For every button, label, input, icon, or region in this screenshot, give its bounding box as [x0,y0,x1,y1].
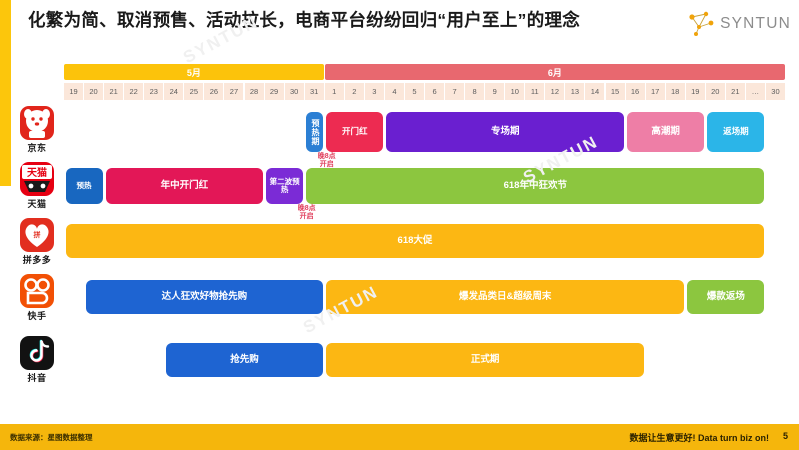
promotion-timeline-chart: 5月6月192021222324252627282930311234567891… [0,56,799,421]
day-cell: 30 [766,83,786,100]
phase-bar[interactable]: 年中开门红 [106,168,263,204]
platform-label: 快手 [27,309,46,322]
footer-page-number: 5 [783,431,788,441]
day-cell: 20 [706,83,726,100]
brand-logo-text: SYNTUN [720,15,791,33]
phase-bar[interactable]: 第二波预热 [266,168,303,204]
svg-text:天猫: 天猫 [27,166,47,179]
day-cell: 26 [204,83,224,100]
platform-快手: 快手 [16,274,58,322]
day-cell: 12 [545,83,565,100]
day-cell: 9 [485,83,505,100]
tmall-cat-icon: 天猫 [20,162,54,196]
day-cell: 28 [245,83,265,100]
day-cell: 14 [585,83,605,100]
platform-label: 抖音 [27,371,46,384]
day-cell: 23 [144,83,164,100]
day-cell: 19 [64,83,84,100]
phase-bar[interactable]: 高潮期 [627,112,704,152]
day-cell: 21 [104,83,124,100]
phase-bar[interactable]: 预热期 [306,112,323,152]
day-cell: 3 [365,83,385,100]
platform-抖音: 抖音 [16,336,58,384]
page-title: 化繁为简、取消预售、活动拉长，电商平台纷纷回归“用户至上”的理念 [28,8,673,33]
day-cell: 7 [445,83,465,100]
footer-slogan: 数据让生意更好! Data turn biz on! [630,431,770,444]
day-cell: 16 [626,83,646,100]
platform-label: 拼多多 [23,253,52,266]
day-cell: 25 [184,83,204,100]
platform-天猫: 天猫天猫 [16,162,58,210]
day-cell: 19 [686,83,706,100]
phase-bar[interactable]: 开门红 [326,112,383,152]
phase-bar[interactable]: 达人狂欢好物抢先购 [86,280,324,314]
page-footer: 数据来源：星图数据整理 数据让生意更好! Data turn biz on! 5 [0,424,799,450]
pinduoduo-heart-icon: 拼 [20,218,54,252]
day-cell: 11 [525,83,545,100]
month-band: 6月 [325,64,785,80]
day-cell: 20 [84,83,104,100]
platform-拼多多: 拼拼多多 [16,218,58,266]
phase-start-note: 晚8点开启 [287,205,327,222]
day-cell: … [746,83,766,100]
day-cell: 22 [124,83,144,100]
jd-joy-dog-icon [20,106,54,140]
phase-bar[interactable]: 预热 [66,168,103,204]
page-header: 化繁为简、取消预售、活动拉长，电商平台纷纷回归“用户至上”的理念 SYNTUN [0,0,799,56]
phase-bar[interactable]: 专场期 [386,112,624,152]
day-cell: 15 [606,83,626,100]
platform-label: 天猫 [27,197,46,210]
day-cell: 30 [285,83,305,100]
phase-bar[interactable]: 返场期 [707,112,764,152]
day-cell: 4 [385,83,405,100]
day-cell: 18 [666,83,686,100]
platform-label: 京东 [27,141,46,154]
day-cell: 13 [565,83,585,100]
phase-bar[interactable]: 618年中狂欢节 [306,168,764,204]
douyin-note-icon [20,336,54,370]
brand-logo: SYNTUN [685,10,791,38]
day-cell: 24 [164,83,184,100]
kuaishou-icon [20,274,54,308]
day-cell: 2 [345,83,365,100]
day-cell: 29 [265,83,285,100]
platform-京东: 京东 [16,106,58,154]
syntun-network-logo-icon [685,11,719,37]
day-cell: 6 [425,83,445,100]
phase-bar[interactable]: 抢先购 [166,343,323,377]
day-cell: 1 [325,83,345,100]
day-cell: 17 [646,83,666,100]
phase-bar[interactable]: 爆款返场 [687,280,764,314]
day-cell: 5 [405,83,425,100]
svg-text:拼: 拼 [34,230,41,239]
phase-bar[interactable]: 正式期 [326,343,644,377]
phase-bar[interactable]: 618大促 [66,224,765,258]
footer-data-source: 数据来源：星图数据整理 [10,432,93,443]
day-cell: 31 [305,83,325,100]
day-cell: 8 [465,83,485,100]
day-cell: 21 [726,83,746,100]
month-band: 5月 [64,64,324,80]
day-cell: 10 [505,83,525,100]
day-cell: 27 [224,83,244,100]
phase-bar[interactable]: 爆发品类日&超级周末 [326,280,684,314]
